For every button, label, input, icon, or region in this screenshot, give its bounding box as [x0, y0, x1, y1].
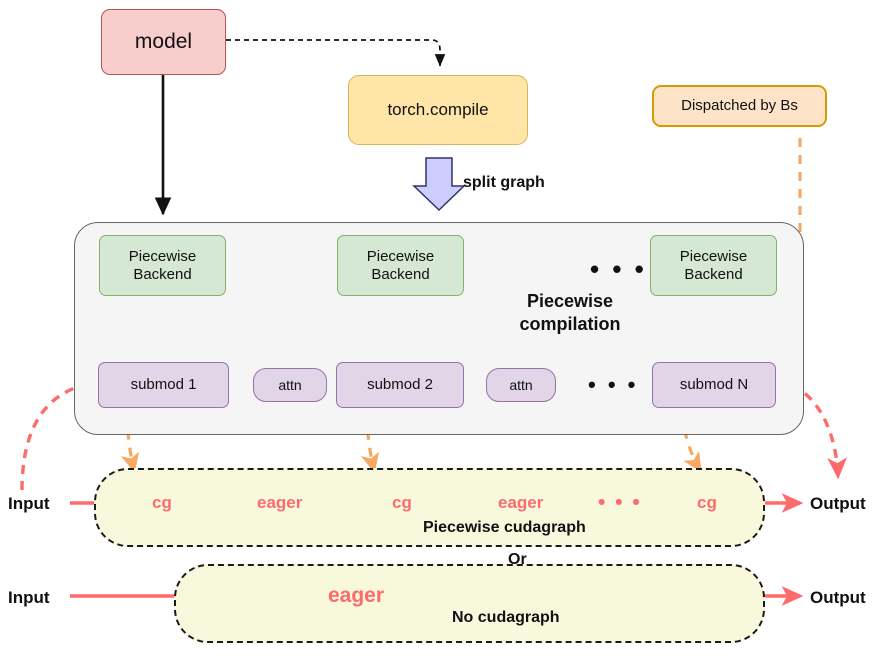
attn-2-label: attn — [509, 377, 532, 394]
split-graph-arrow — [414, 158, 464, 210]
split-graph-label: split graph — [463, 174, 545, 192]
submod-n-label: submod N — [680, 376, 748, 394]
submod-1-label: submod 1 — [131, 376, 197, 394]
input-label-1: Input — [8, 494, 50, 514]
output-label-1: Output — [810, 494, 866, 514]
stage-eager-1: eager — [257, 493, 302, 513]
model-label: model — [135, 30, 192, 55]
diagram-canvas: torch.compile (dashed black, elbow) --> … — [0, 0, 874, 663]
piecewise-compilation-label: Piecewise compilation — [495, 290, 645, 335]
torch-compile-label: torch.compile — [387, 100, 488, 120]
piecewise-backend-1[interactable]: Piecewise Backend — [99, 235, 226, 296]
dispatched-by-bs-label: Dispatched by Bs — [681, 97, 798, 115]
edge-model-to-torchcompile — [226, 40, 440, 66]
submod-2-node[interactable]: submod 2 — [336, 362, 464, 408]
piecewise-backend-2[interactable]: Piecewise Backend — [337, 235, 464, 296]
backend-1-line2: Backend — [129, 266, 197, 284]
dispatched-by-bs-node[interactable]: Dispatched by Bs — [652, 85, 827, 127]
submod-2-label: submod 2 — [367, 376, 433, 394]
submod-1-node[interactable]: submod 1 — [98, 362, 229, 408]
input-label-2: Input — [8, 588, 50, 608]
stage-cg-n: cg — [697, 493, 717, 513]
output-label-2: Output — [810, 588, 866, 608]
backend-1-line1: Piecewise — [129, 248, 197, 266]
piecewise-backend-n[interactable]: Piecewise Backend — [650, 235, 777, 296]
stage-eager-no-cudagraph: eager — [328, 584, 384, 608]
submod-row-ellipsis: • • • — [588, 374, 638, 396]
stage-cg-2: cg — [392, 493, 412, 513]
backend-n-line2: Backend — [680, 266, 748, 284]
stage-ellipsis: • • • — [598, 491, 642, 515]
no-cudagraph-title: No cudagraph — [452, 609, 560, 627]
model-node[interactable]: model — [101, 9, 226, 75]
piecewise-cudagraph-title: Piecewise cudagraph — [423, 519, 586, 537]
backend-n-line1: Piecewise — [680, 248, 748, 266]
attn-1-label: attn — [278, 377, 301, 394]
no-cudagraph-container — [174, 564, 765, 643]
torch-compile-node[interactable]: torch.compile — [348, 75, 528, 145]
attn-node-1[interactable]: attn — [253, 368, 327, 402]
submod-n-node[interactable]: submod N — [652, 362, 776, 408]
stage-cg-1: cg — [152, 493, 172, 513]
backend-2-line2: Backend — [367, 266, 435, 284]
stage-eager-2: eager — [498, 493, 543, 513]
backend-row-ellipsis: • • • — [590, 256, 647, 282]
backend-2-line1: Piecewise — [367, 248, 435, 266]
or-label: Or — [508, 551, 527, 569]
attn-node-2[interactable]: attn — [486, 368, 556, 402]
